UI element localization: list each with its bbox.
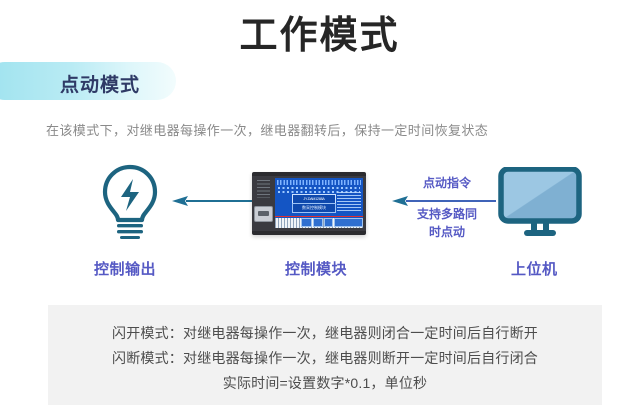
module-vents <box>257 180 270 198</box>
command-label-top: 点动指令 <box>398 174 496 191</box>
module-spec-print <box>337 192 361 212</box>
relay-module-icon: JY-DAM1288A 数采控制模块 <box>252 172 366 235</box>
section-badge-label: 点动模式 <box>60 70 140 97</box>
module-case: JY-DAM1288A 数采控制模块 <box>252 172 366 235</box>
module-board: JY-DAM1288A 数采控制模块 <box>275 178 363 228</box>
note-line-flash-close: 闪断模式：对继电器每操作一次，继电器则断开一定时间后自行闭合 <box>48 348 602 368</box>
command-label-bottom-line2: 时点动 <box>396 223 498 241</box>
module-connector <box>313 218 323 227</box>
lightbulb-icon <box>97 163 163 239</box>
module-red-line <box>275 216 363 218</box>
module-print-row <box>278 187 360 189</box>
node-caption-control-module: 控制模块 <box>285 258 347 279</box>
module-db9-plug <box>254 206 273 222</box>
command-label-bottom: 支持多路同 时点动 <box>396 205 498 241</box>
page-title: 工作模式 <box>0 13 639 59</box>
command-label-bottom-line1: 支持多路同 <box>396 205 498 223</box>
node-caption-host-computer: 上位机 <box>511 258 558 279</box>
module-connector <box>324 218 333 227</box>
module-connector <box>301 218 312 227</box>
node-caption-control-output: 控制输出 <box>94 258 156 279</box>
note-line-flash-open: 闪开模式：对继电器每操作一次，继电器则闭合一定时间后自行断开 <box>48 323 602 343</box>
workflow-diagram: JY-DAM1288A 数采控制模块 点动指令 支持多路同 时点动 <box>0 155 639 290</box>
module-terminal-strip-top <box>277 180 361 185</box>
note-line-time-formula: 实际时间=设置数字*0.1，单位秒 <box>48 373 602 393</box>
note-panel: 闪开模式：对继电器每操作一次，继电器则闭合一定时间后自行断开 闪断模式：对继电器… <box>48 305 602 405</box>
module-subtitle-label: 数采控制模块 <box>292 203 336 213</box>
monitor-icon <box>498 167 582 241</box>
section-description: 在该模式下，对继电器每操作一次，继电器翻转后，保持一定时间恢复状态 <box>46 120 488 139</box>
arrow-left-icon <box>172 193 260 209</box>
module-connector <box>334 218 363 227</box>
